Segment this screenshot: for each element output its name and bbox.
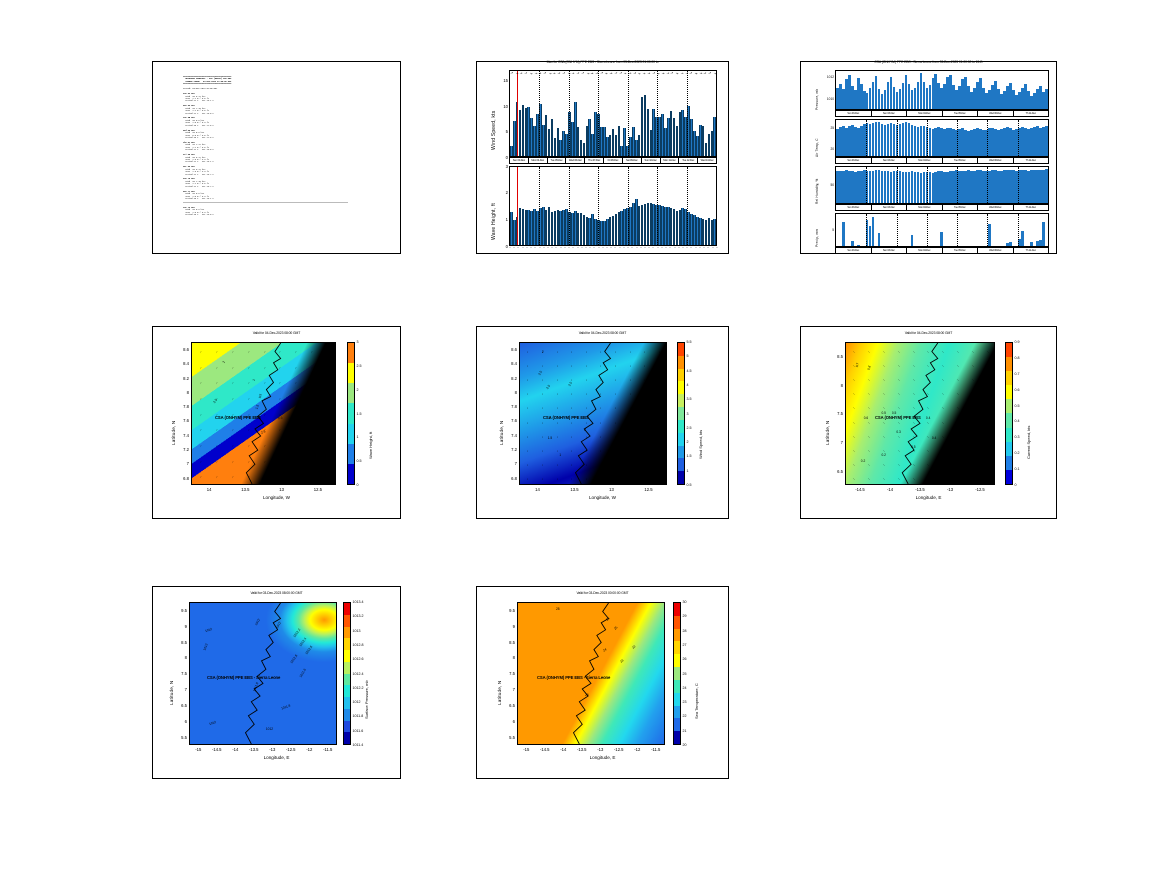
vector-arrow: ↑ (247, 351, 249, 354)
vector-arrow: ↑ (912, 463, 915, 466)
x-tick: | (699, 247, 701, 248)
x-tick-label: -11.5 (322, 747, 334, 752)
gridline (927, 214, 928, 246)
x-tick: | (509, 247, 511, 248)
y-tick-label: 7 (178, 461, 189, 466)
gridline (957, 120, 958, 156)
vector-arrow: ↑ (263, 445, 265, 448)
contour-label: 0.2 (882, 453, 886, 457)
wind-speed-contour-map-axes: ↑↑↑↑↑↑↑↑↑↑↑↑↑↑↑↑↑↑↑↑↑↑↑↑↑↑↑↑↑↑↑↑↑↑↑↑↑↑↑↑… (519, 342, 667, 485)
gridline (987, 167, 988, 203)
colorbar-tick-label: 1011.8 (353, 714, 364, 718)
contour-label: 0.7 (855, 362, 860, 367)
colorbar-tick-label: 28 (683, 629, 687, 633)
wave-height-contour-map-xlabel: Longitude, W (153, 495, 400, 500)
bar (988, 224, 991, 246)
day-label: Th 11-Dec (1014, 111, 1049, 116)
y-tick-label: 9.5 (176, 608, 187, 613)
gridline (897, 120, 898, 156)
y-tick-label: 5.5 (176, 735, 187, 740)
current-time-marker (517, 167, 518, 245)
colorbar-segment (1006, 371, 1012, 385)
wind-arrow: ↗ (712, 72, 716, 76)
bar (940, 232, 943, 246)
x-tick: | (708, 247, 710, 248)
x-tick-label: -14 (884, 487, 896, 492)
colorbar-tick-label: 2.5 (357, 364, 362, 368)
x-tick: | (539, 247, 541, 248)
x-tick: | (653, 247, 655, 248)
colorbar-segment (674, 616, 680, 629)
day-label: Sat 09-Dec (623, 158, 642, 163)
day-label: Wed 06-Dec (978, 111, 1014, 116)
vector-arrow: ↑ (247, 429, 249, 432)
vector-arrow: ↑ (629, 420, 632, 423)
current-speed-contour-map-xlabel: Longitude, E (801, 495, 1056, 500)
vector-arrow: ↑ (327, 460, 329, 463)
current-speed-map-panel: Valid for 04-Dec-2023 08:00 GMT↑↑↑↑↑↑↑↑↑… (800, 326, 1057, 519)
bar-series (836, 120, 1048, 156)
wind-arrow: ↗ (693, 72, 697, 76)
vector-arrow: ↑ (912, 392, 915, 395)
colorbar-tick-label: 1.5 (357, 412, 362, 416)
colorbar-segment (344, 603, 350, 615)
vector-arrow: ↑ (263, 476, 265, 479)
colorbar-segment (344, 638, 350, 650)
x-tick: | (585, 247, 587, 248)
colorbar-segment (674, 654, 680, 667)
bar (1045, 169, 1048, 203)
wind-direction-arrows: ↗↗↗↗↗↗↗↗↗↗↗↗↗↗↗↗↗↗↗↗↗↗↗↗↗↗↗↗↗↗↗↗↗↗↗↗↗↗↗↗… (510, 71, 716, 77)
x-tick: | (535, 247, 537, 248)
wind-arrow: ↗ (556, 72, 560, 76)
wind-arrow: ↗ (528, 72, 532, 76)
vector-arrow: ↑ (263, 460, 265, 463)
x-tick: | (619, 247, 621, 248)
x-tick-label: -15 (192, 747, 204, 752)
colorbar-tick-label: 26 (683, 657, 687, 661)
ts2-title: CSA (ONHYM) PPE EBS - Sierra Leone from … (801, 60, 1056, 64)
vector-arrow: ↑ (247, 382, 249, 385)
vector-arrow: ↑ (263, 398, 265, 401)
day-label: Sun 03-Dec (510, 158, 529, 163)
bar-series (510, 167, 716, 245)
colorbar-segment (1006, 442, 1012, 456)
vector-arrow: ↑ (200, 382, 202, 385)
vector-arrow: ↑ (327, 413, 329, 416)
colorbar-tick-label: 1013 (353, 629, 361, 633)
report-line: Period 10 s SST 28.1 C (183, 198, 394, 200)
gridline (927, 120, 928, 156)
station-label: CSA (ONHYM) PPE EBS - Sierra Leone (207, 675, 280, 680)
vector-arrow: ↑ (247, 366, 249, 369)
colorbar-tick-label: 1013.4 (353, 600, 364, 604)
colorbar-segment (674, 718, 680, 731)
vector-arrow: ↑ (971, 406, 974, 409)
x-tick: | (627, 247, 629, 248)
x-tick: | (564, 247, 566, 248)
sea-temperature-contour-map-colorbar (673, 602, 681, 745)
surface-pressure-map-panel: Valid for 03-Dec-2023 08:00:00 GMT101210… (152, 586, 401, 779)
report-divider (183, 202, 348, 203)
y-tick-label: 7 (832, 440, 843, 445)
vector-arrow: ↑ (971, 350, 974, 353)
wind-wave-timeseries-panel: Max for CSA (ONHYM) PPE EBS - Sierra Leo… (476, 61, 729, 254)
contour-label: 2 (584, 428, 586, 432)
y-tick-label: 8.6 (178, 347, 189, 352)
day-label: Wed 06-Dec (978, 158, 1014, 163)
vector-arrow: ↑ (231, 429, 233, 432)
wind-arrow: ↗ (580, 72, 584, 76)
current-time-marker (517, 71, 518, 156)
colorbar-segment (674, 693, 680, 706)
colorbar-segment (1006, 385, 1012, 399)
colorbar-tick-label: 3 (687, 412, 689, 416)
colorbar-tick-label: 29 (683, 614, 687, 618)
bar (911, 235, 914, 246)
day-label: Thu 07-Dec (585, 158, 604, 163)
x-tick: | (606, 247, 608, 248)
met-timeseries-panel: CSA (ONHYM) PPE EBS - Sierra Leone from … (800, 61, 1057, 254)
colorbar-tick-label: 1 (687, 469, 689, 473)
bar (851, 241, 854, 246)
contour-label: 0.6 (864, 416, 868, 420)
colorbar-segment (678, 471, 684, 484)
colorbar-tick-label: 22 (683, 714, 687, 718)
y-tick-label: 6.5 (832, 469, 843, 474)
gridline (569, 167, 570, 245)
gridline (539, 167, 540, 245)
contour-label: 0.1 (950, 453, 954, 457)
x-tick: | (615, 247, 617, 248)
x-tick: | (551, 247, 553, 248)
wind-speed-contour-map-xlabel: Longitude, W (477, 495, 728, 500)
vector-arrow: ↑ (986, 449, 989, 452)
y-tick-label: 7 (176, 687, 187, 692)
x-tick-label: -14.5 (539, 747, 551, 752)
vector-arrow: ↑ (327, 476, 329, 479)
x-tick: | (623, 247, 625, 248)
colorbar-segment (678, 369, 684, 382)
y-tick-label: 8 (504, 655, 515, 660)
y-tick-label: 7.2 (178, 447, 189, 452)
x-tick-label: 12.5 (643, 487, 655, 492)
y-tick-label: 5 (817, 228, 834, 232)
colorbar-segment (344, 721, 350, 733)
colorbar-tick-label: 2 (687, 440, 689, 444)
day-label: Mon 04-Dec (907, 158, 943, 163)
surface-pressure-contour-map-ylabel: Latitude, N (169, 681, 174, 705)
vector-arrow: ↑ (263, 413, 265, 416)
bar (1009, 242, 1012, 246)
wind-day-labels: Sun 03-DecMon 04-DecTue 05-DecWed 06-Dec… (509, 157, 717, 164)
vector-arrow: ↑ (912, 449, 915, 452)
y-tick-label: 8.2 (506, 376, 517, 381)
x-tick: | (602, 247, 604, 248)
colorbar-segment (1006, 456, 1012, 470)
bar (1045, 89, 1048, 109)
x-tick-label: -14 (557, 747, 569, 752)
colorbar-segment (1006, 399, 1012, 413)
colorbar-tick-label: 1012.4 (353, 672, 364, 676)
wind-speed-map-panel: Valid for 04-Dec-2023 08:00 GMT↑↑↑↑↑↑↑↑↑… (476, 326, 729, 519)
y-tick-label: 7.5 (504, 671, 515, 676)
wave-xticks: ||||||||||||||||||||||||||||||||||||||||… (509, 247, 717, 249)
vector-arrow: ↑ (295, 413, 297, 416)
y-tick-label: 8.6 (506, 347, 517, 352)
colorbar-segment (344, 732, 350, 744)
colorbar-tick-label: 1012 (353, 700, 361, 704)
x-tick: | (695, 247, 697, 248)
bar (872, 217, 875, 246)
wind-arrow: ↗ (561, 72, 565, 76)
y-tick-label: 10 (495, 104, 508, 109)
colorbar-segment (678, 407, 684, 420)
coastline (518, 603, 664, 744)
vector-arrow: ↑ (912, 406, 915, 409)
x-tick: | (581, 247, 583, 248)
vector-arrow: ↑ (986, 477, 989, 480)
bar (842, 222, 845, 246)
colorbar-tick-label: 1011.6 (353, 729, 364, 733)
vector-arrow: ↑ (897, 406, 900, 409)
bar (713, 219, 716, 245)
colorbar-segment (344, 650, 350, 662)
day-label: Tue 05-Dec (548, 158, 567, 163)
gridline (897, 167, 898, 203)
y-tick-label: 3 (495, 164, 508, 169)
vector-arrow: ↑ (912, 350, 915, 353)
day-label: Tue 05-Dec (943, 248, 979, 253)
colorbar-tick-label: 21 (683, 729, 687, 733)
vector-arrow: ↑ (200, 413, 202, 416)
colorbar-tick-label: 1 (357, 435, 359, 439)
vector-arrow: ↑ (215, 460, 217, 463)
x-tick-label: -14.5 (211, 747, 223, 752)
colorbar-segment (344, 662, 350, 674)
vector-arrow: ↑ (200, 445, 202, 448)
vector-arrow: ↑ (986, 392, 989, 395)
day-label: Tue 05-Dec (943, 111, 979, 116)
colorbar-title: Wind Speed, kts (698, 430, 703, 459)
day-label: Th 11-Dec (1014, 205, 1049, 210)
x-tick: | (716, 247, 718, 248)
station-label: CSA (ONHYM) PPE EBS (215, 415, 261, 420)
y-tick-label: 8.2 (178, 376, 189, 381)
gridline (987, 120, 988, 156)
station-label: CSA (ONHYM) PPE EBS - Sierra Leone (537, 675, 610, 680)
vector-arrow: ↑ (200, 366, 202, 369)
colorbar-segment (348, 343, 354, 363)
colorbar-tick-label: 0.4 (1015, 419, 1020, 423)
sea-temperature-contour-map-title: Valid for 03-Dec-2023 00:00:00 GMT (477, 591, 728, 595)
vector-arrow: ↑ (215, 382, 217, 385)
colorbar-tick-label: 0.2 (1015, 451, 1020, 455)
y-tick-label: 7.4 (178, 433, 189, 438)
ts1-title: Max for CSA (ONHYM) PPE EBS - Sierra Leo… (477, 60, 728, 64)
colorbar-segment (674, 680, 680, 693)
colorbar-tick-label: 1011.4 (353, 743, 364, 747)
wind-speed-contour-map-colorbar (677, 342, 685, 485)
relative-humidity-timeseries-axes (835, 166, 1049, 204)
day-label: Mon 04-Dec (907, 248, 943, 253)
sea-temperature-contour-map-axes: 28262524232226 (517, 602, 665, 745)
vector-arrow: ↑ (311, 366, 313, 369)
colorbar-tick-label: 20 (683, 743, 687, 747)
vector-arrow: ↑ (215, 351, 217, 354)
contour-label: 0.3 (896, 430, 900, 434)
x-tick: | (577, 247, 579, 248)
sea-temperature-contour-map-xlabel: Longitude, E (477, 755, 728, 760)
vector-arrow: ↑ (311, 413, 313, 416)
y-tick-label: 9 (504, 624, 515, 629)
vector-arrow: ↑ (311, 460, 313, 463)
gridline (687, 167, 688, 245)
vector-arrow: ↑ (912, 378, 915, 381)
colorbar-segment (674, 706, 680, 719)
day-label: Sun 03-Dec (872, 248, 908, 253)
colorbar-tick-label: 0 (1015, 483, 1017, 487)
y-tick-label: 8 (176, 655, 187, 660)
vector-arrow: ↑ (231, 445, 233, 448)
colorbar-segment (348, 424, 354, 444)
x-tick: | (678, 247, 680, 248)
wind-speed-axes (509, 70, 717, 157)
vector-arrow: ↑ (200, 398, 202, 401)
y-tick-label: 5.5 (504, 735, 515, 740)
vector-arrow: ↑ (556, 420, 559, 423)
day-label-bar: Sun 03-DecSun 03-DecMon 04-DecTue 05-Dec… (835, 157, 1049, 164)
x-tick-label: 14 (203, 487, 215, 492)
colorbar-segment (674, 731, 680, 744)
colorbar-tick-label: 0.5 (357, 459, 362, 463)
wind-arrow: ↗ (679, 72, 683, 76)
colorbar-segment (678, 394, 684, 407)
vector-arrow: ↑ (971, 364, 974, 367)
y-tick-label: 20 (817, 147, 834, 151)
day-label: Wed 06-Dec (566, 158, 585, 163)
colorbar-tick-label: 1012.6 (353, 657, 364, 661)
wind-arrow: ↗ (542, 72, 546, 76)
colorbar-segment (678, 381, 684, 394)
gridline (957, 214, 958, 246)
x-tick: | (674, 247, 676, 248)
vector-arrow: ↑ (912, 364, 915, 367)
y-tick-label: 1010 (817, 97, 834, 101)
vector-arrow: ↑ (247, 460, 249, 463)
colorbar-title: Surface Pressure, mb (364, 681, 369, 720)
wave-height-contour-map-colorbar (347, 342, 355, 485)
y-tick-label: 7.4 (506, 433, 517, 438)
vector-arrow: ↑ (200, 429, 202, 432)
x-tick: | (526, 247, 528, 248)
y-tick-label: 8.5 (832, 354, 843, 359)
gridline (628, 167, 629, 245)
x-tick: | (518, 247, 520, 248)
colorbar-segment (674, 641, 680, 654)
colorbar-title: Wave Height, ft (368, 432, 373, 459)
vector-arrow: ↑ (912, 477, 915, 480)
colorbar-tick-label: 0.9 (1015, 340, 1020, 344)
y-tick-label: 8.4 (178, 361, 189, 366)
colorbar-segment (1006, 343, 1012, 357)
day-label: Sun 03-Dec (836, 111, 872, 116)
x-tick: | (657, 247, 659, 248)
x-tick: | (649, 247, 651, 248)
contour-label: 0.4 (926, 416, 930, 420)
x-tick: | (670, 247, 672, 248)
gridline (866, 214, 867, 246)
colorbar-tick-label: 0.3 (1015, 435, 1020, 439)
x-tick: | (686, 247, 688, 248)
colorbar-tick-label: 0.1 (1015, 467, 1020, 471)
gridline (598, 71, 599, 156)
bar (713, 117, 716, 156)
y-tick-label: 0 (495, 244, 508, 249)
wind-speed-contour-map-ylabel: Latitude, N (499, 421, 504, 445)
air-temperature-timeseries-axes (835, 119, 1049, 157)
x-tick: | (573, 247, 575, 248)
day-label: Wed 06-Dec (978, 248, 1014, 253)
y-tick-label: 7 (506, 461, 517, 466)
colorbar-tick-label: 0.6 (1015, 388, 1020, 392)
y-tick-label: 6 (176, 719, 187, 724)
x-tick-label: -15 (520, 747, 532, 752)
day-label: Tue 05-Dec (943, 158, 979, 163)
gridline (569, 71, 570, 156)
colorbar-tick-label: 2.5 (687, 426, 692, 430)
vector-arrow: ↑ (200, 351, 202, 354)
x-tick-label: 12.5 (312, 487, 324, 492)
y-tick-label: 5 (495, 129, 508, 134)
x-tick-label: -13.5 (914, 487, 926, 492)
bar (857, 245, 860, 246)
day-label: Mon 04-Dec (907, 111, 943, 116)
colorbar-segment (344, 674, 350, 686)
colorbar-tick-label: 30 (683, 600, 687, 604)
bar (1021, 231, 1024, 246)
vector-arrow: ↑ (311, 351, 313, 354)
day-label-bar: Sun 03-DecSun 03-DecMon 04-DecTue 05-Dec… (835, 204, 1049, 211)
vector-arrow: ↑ (263, 366, 265, 369)
colorbar-segment (344, 709, 350, 721)
colorbar-segment (1006, 470, 1012, 484)
current-speed-contour-map-title: Valid for 04-Dec-2023 08:00 GMT (801, 331, 1056, 335)
y-tick-label: 7.5 (832, 411, 843, 416)
colorbar-tick-label: 1.5 (687, 454, 692, 458)
gridline (598, 167, 599, 245)
vector-arrow: ↑ (215, 429, 217, 432)
gridline (1018, 167, 1019, 203)
vector-arrow: ↑ (231, 382, 233, 385)
colorbar-segment (674, 667, 680, 680)
y-tick-label: 6.8 (506, 476, 517, 481)
colorbar-tick-label: 0.8 (1015, 356, 1020, 360)
day-label: Sun 03-Dec (836, 248, 872, 253)
current-speed-contour-map-colorbar (1005, 342, 1013, 485)
wave-height-contour-map-axes: ↑↑↑↑↑↑↑↑↑↑↑↑↑↑↑↑↑↑↑↑↑↑↑↑↑↑↑↑↑↑↑↑↑↑↑↑↑↑↑↑… (191, 342, 336, 485)
wind-arrow: ↗ (604, 72, 608, 76)
colorbar-segment (674, 629, 680, 642)
colorbar-title: Sea Temperature, C (694, 684, 699, 720)
colorbar-tick-label: 3 (357, 340, 359, 344)
vector-arrow: ↑ (327, 366, 329, 369)
pressure-timeseries-axes (835, 70, 1049, 110)
colorbar-tick-label: 2 (357, 388, 359, 392)
day-label: Mon 04-Dec (529, 158, 548, 163)
gridline (687, 71, 688, 156)
day-label: Sun 03-Dec (836, 205, 872, 210)
